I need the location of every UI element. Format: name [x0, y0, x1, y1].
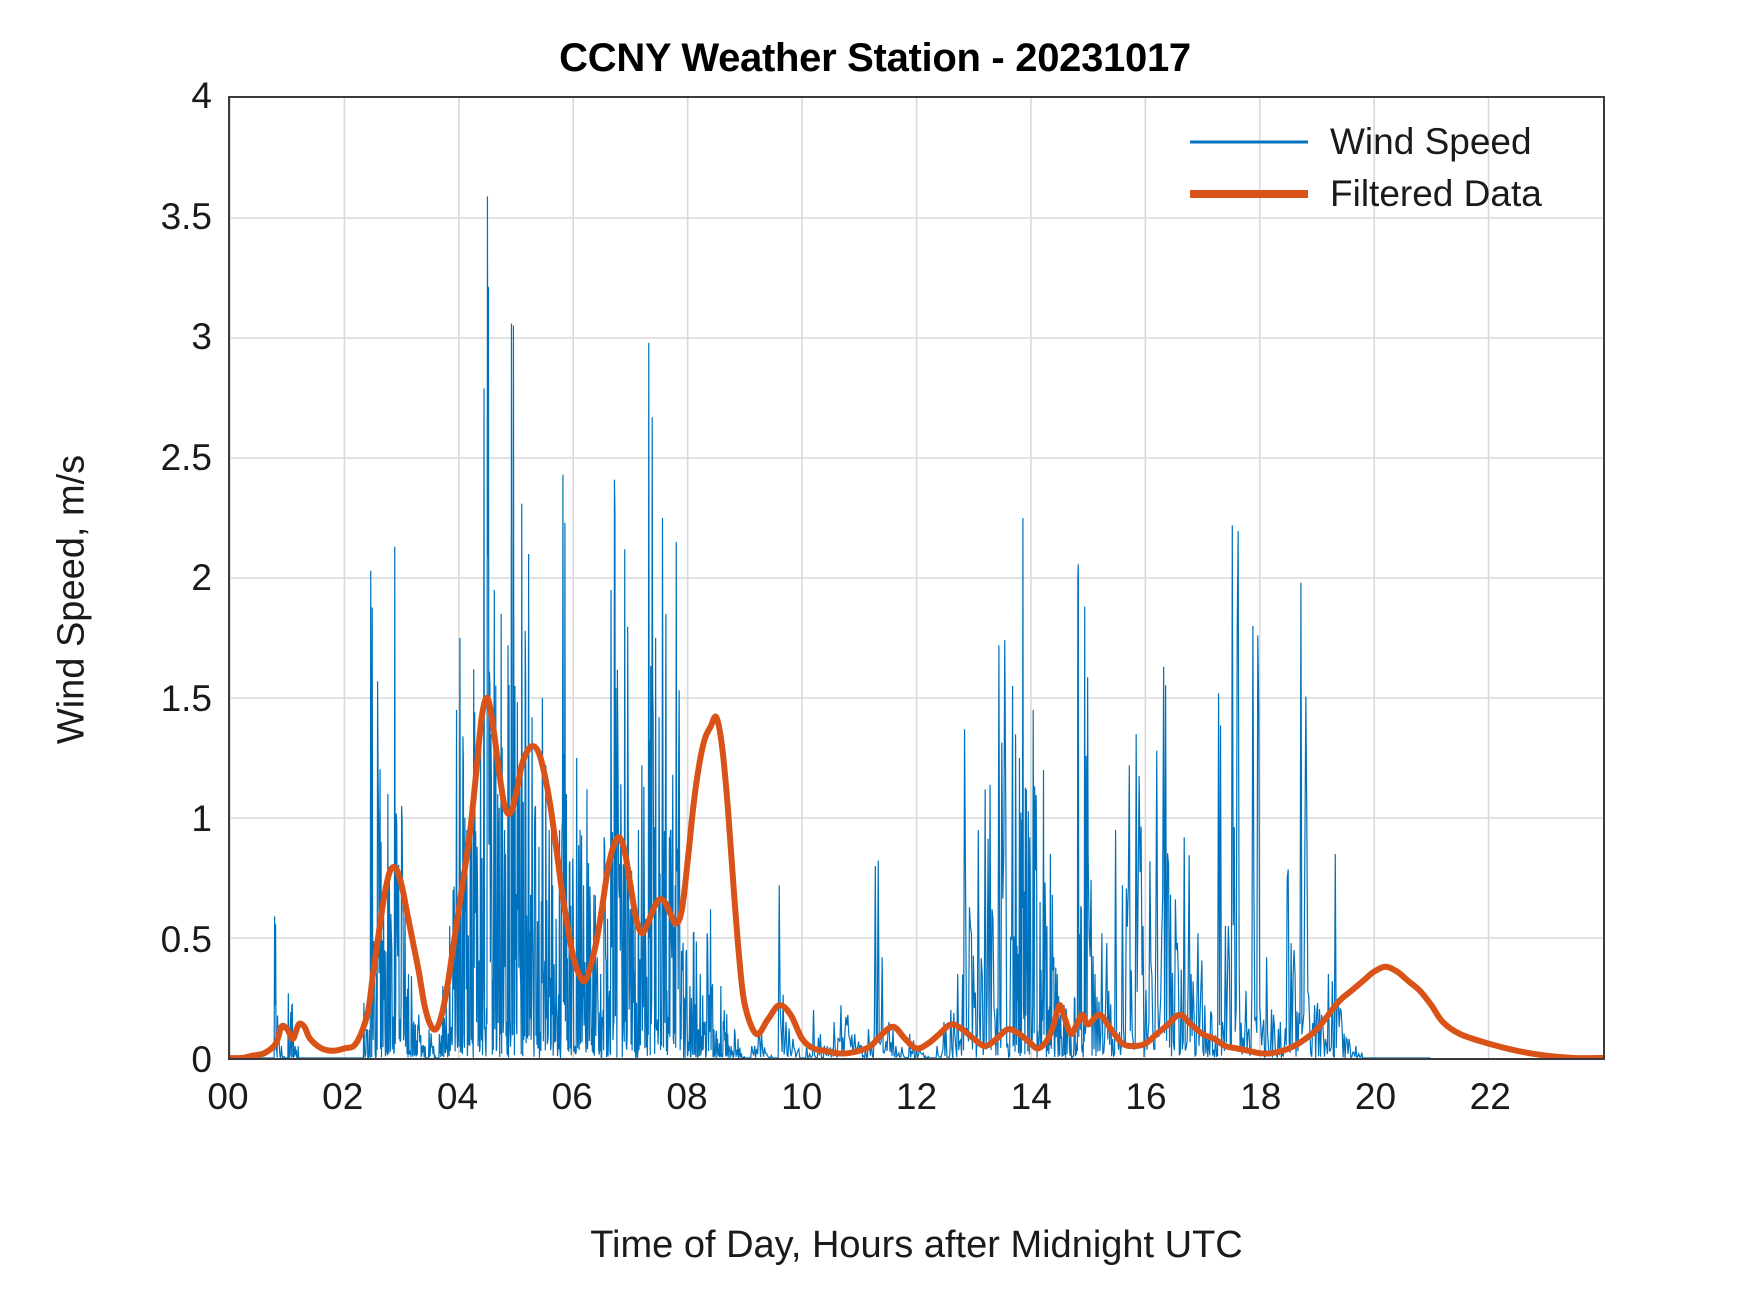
y-tick-label: 3	[191, 316, 212, 358]
x-tick-label: 14	[1011, 1076, 1052, 1118]
gridlines	[230, 98, 1603, 1058]
x-axis-label: Time of Day, Hours after Midnight UTC	[228, 1224, 1605, 1267]
y-tick-label: 1	[191, 798, 212, 840]
legend-entry: Filtered Data	[1190, 170, 1590, 218]
x-tick-label: 22	[1470, 1076, 1511, 1118]
x-tick-label: 00	[207, 1076, 248, 1118]
x-tick-label: 18	[1240, 1076, 1281, 1118]
chart-title: CCNY Weather Station - 20231017	[0, 36, 1750, 81]
x-tick-label: 06	[552, 1076, 593, 1118]
y-tick-label: 4	[191, 75, 212, 117]
y-tick-label: 3.5	[161, 196, 212, 238]
y-tick-label: 1.5	[161, 678, 212, 720]
x-tick-label: 04	[437, 1076, 478, 1118]
chart-legend: Wind SpeedFiltered Data	[1190, 118, 1590, 228]
x-tick-label: 10	[781, 1076, 822, 1118]
legend-entry: Wind Speed	[1190, 118, 1590, 166]
y-tick-label: 0	[191, 1039, 212, 1081]
chart-figure: CCNY Weather Station - 20231017 Wind Spe…	[0, 0, 1750, 1313]
x-tick-label: 20	[1355, 1076, 1396, 1118]
y-axis-label: Wind Speed, m/s	[51, 250, 94, 950]
plot-area	[228, 96, 1605, 1060]
plot-svg	[230, 98, 1603, 1058]
x-tick-label: 12	[896, 1076, 937, 1118]
legend-line-icon	[1190, 141, 1308, 144]
y-tick-label: 0.5	[161, 919, 212, 961]
x-tick-label: 08	[666, 1076, 707, 1118]
x-tick-label: 16	[1125, 1076, 1166, 1118]
y-tick-label: 2.5	[161, 437, 212, 479]
y-tick-label: 2	[191, 557, 212, 599]
x-tick-label: 02	[322, 1076, 363, 1118]
legend-label: Wind Speed	[1330, 121, 1532, 163]
legend-line-icon	[1190, 190, 1308, 198]
legend-label: Filtered Data	[1330, 173, 1542, 215]
